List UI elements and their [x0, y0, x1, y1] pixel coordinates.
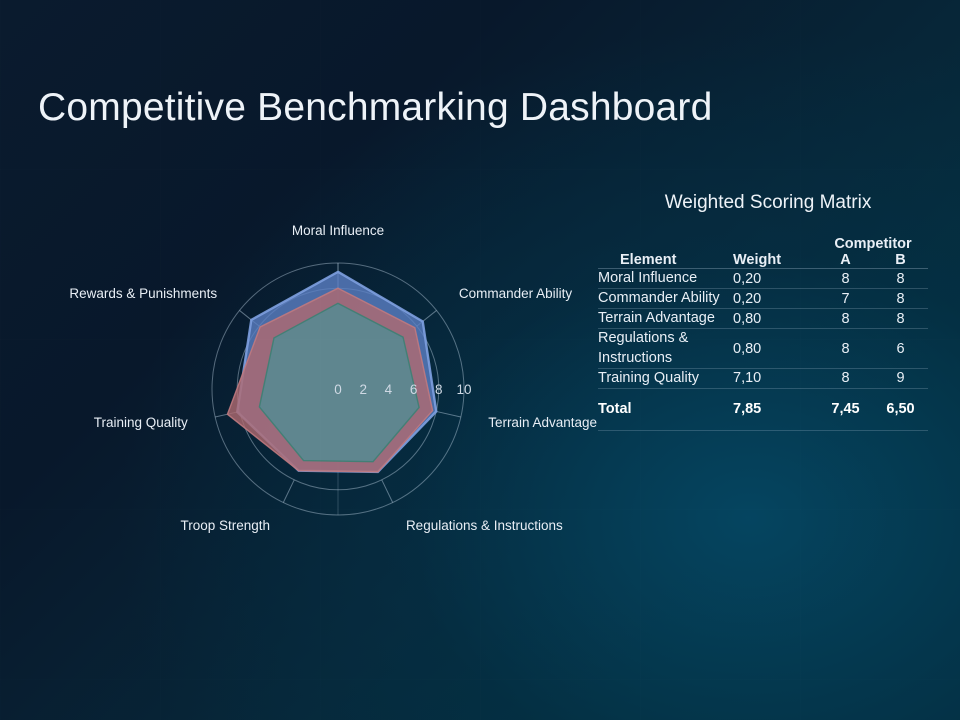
- cell-weight: 7,10: [733, 368, 818, 388]
- radar-tick-label: 0: [334, 382, 342, 397]
- column-header-competitor-b: B: [873, 252, 928, 269]
- table-row: Regulations & Instructions0,8086: [598, 329, 928, 368]
- radar-chart: 0246810 Moral InfluenceCommander Ability…: [0, 170, 600, 590]
- column-header-element: Element: [598, 252, 733, 269]
- cell-competitor-a: 8: [818, 309, 873, 329]
- radar-axis-label: Moral Influence: [292, 223, 384, 238]
- radar-axis-label: Terrain Advantage: [488, 415, 597, 430]
- radar-tick-label: 10: [456, 382, 471, 397]
- cell-competitor-b: 9: [873, 368, 928, 388]
- total-competitor-a: 7,45: [818, 388, 873, 430]
- group-header-competitor: Competitor: [818, 236, 928, 252]
- dashboard-root: Competitive Benchmarking Dashboard 02468…: [0, 0, 960, 720]
- total-weight: 7,85: [733, 388, 818, 430]
- page-title: Competitive Benchmarking Dashboard: [38, 86, 712, 130]
- table-total-row: Total7,857,456,50: [598, 388, 928, 430]
- cell-competitor-b: 8: [873, 289, 928, 309]
- radar-spoke: [436, 411, 461, 417]
- cell-competitor-b: 6: [873, 329, 928, 368]
- table-row: Training Quality7,1089: [598, 368, 928, 388]
- cell-competitor-a: 8: [818, 368, 873, 388]
- cell-weight: 0,20: [733, 289, 818, 309]
- cell-weight: 0,80: [733, 329, 818, 368]
- cell-competitor-a: 8: [818, 269, 873, 289]
- column-header-weight: Weight: [733, 252, 818, 269]
- cell-competitor-b: 8: [873, 269, 928, 289]
- cell-competitor-a: 8: [818, 329, 873, 368]
- cell-competitor-b: 8: [873, 309, 928, 329]
- group-header-spacer-element: [598, 236, 733, 252]
- cell-element: Commander Ability: [598, 289, 733, 309]
- radar-tick-label: 6: [410, 382, 418, 397]
- table-body: Moral Influence0,2088Commander Ability0,…: [598, 269, 928, 431]
- radar-tick-label: 8: [435, 382, 443, 397]
- cell-element: Training Quality: [598, 368, 733, 388]
- column-header-competitor-a: A: [818, 252, 873, 269]
- radar-spoke: [382, 480, 393, 503]
- radar-chart-panel: 0246810 Moral InfluenceCommander Ability…: [0, 170, 600, 590]
- radar-spoke: [283, 480, 294, 503]
- radar-axis-label: Regulations & Instructions: [406, 518, 563, 533]
- table-head: Competitor Element Weight A B: [598, 236, 928, 269]
- group-header-spacer-weight: [733, 236, 818, 252]
- scoring-table: Competitor Element Weight A B Moral Infl…: [598, 236, 928, 431]
- table-row: Commander Ability0,2078: [598, 289, 928, 309]
- cell-weight: 0,80: [733, 309, 818, 329]
- radar-axis-label: Training Quality: [94, 415, 188, 430]
- radar-tick-label: 4: [385, 382, 393, 397]
- weighted-scoring-matrix-panel: Weighted Scoring Matrix Competitor Eleme…: [598, 192, 938, 431]
- cell-element: Terrain Advantage: [598, 309, 733, 329]
- radar-tick-label: 2: [359, 382, 367, 397]
- total-label: Total: [598, 388, 733, 430]
- table-header-row: Element Weight A B: [598, 252, 928, 269]
- cell-element: Moral Influence: [598, 269, 733, 289]
- table-row: Terrain Advantage0,8088: [598, 309, 928, 329]
- cell-element: Regulations & Instructions: [598, 329, 733, 368]
- cell-weight: 0,20: [733, 269, 818, 289]
- radar-axis-label: Rewards & Punishments: [69, 286, 217, 301]
- cell-competitor-a: 7: [818, 289, 873, 309]
- table-group-header-row: Competitor: [598, 236, 928, 252]
- radar-axis-label: Commander Ability: [459, 286, 573, 301]
- table-row: Moral Influence0,2088: [598, 269, 928, 289]
- radar-axis-label: Troop Strength: [180, 518, 270, 533]
- total-competitor-b: 6,50: [873, 388, 928, 430]
- matrix-title: Weighted Scoring Matrix: [598, 192, 938, 214]
- radar-series-group: [227, 272, 436, 472]
